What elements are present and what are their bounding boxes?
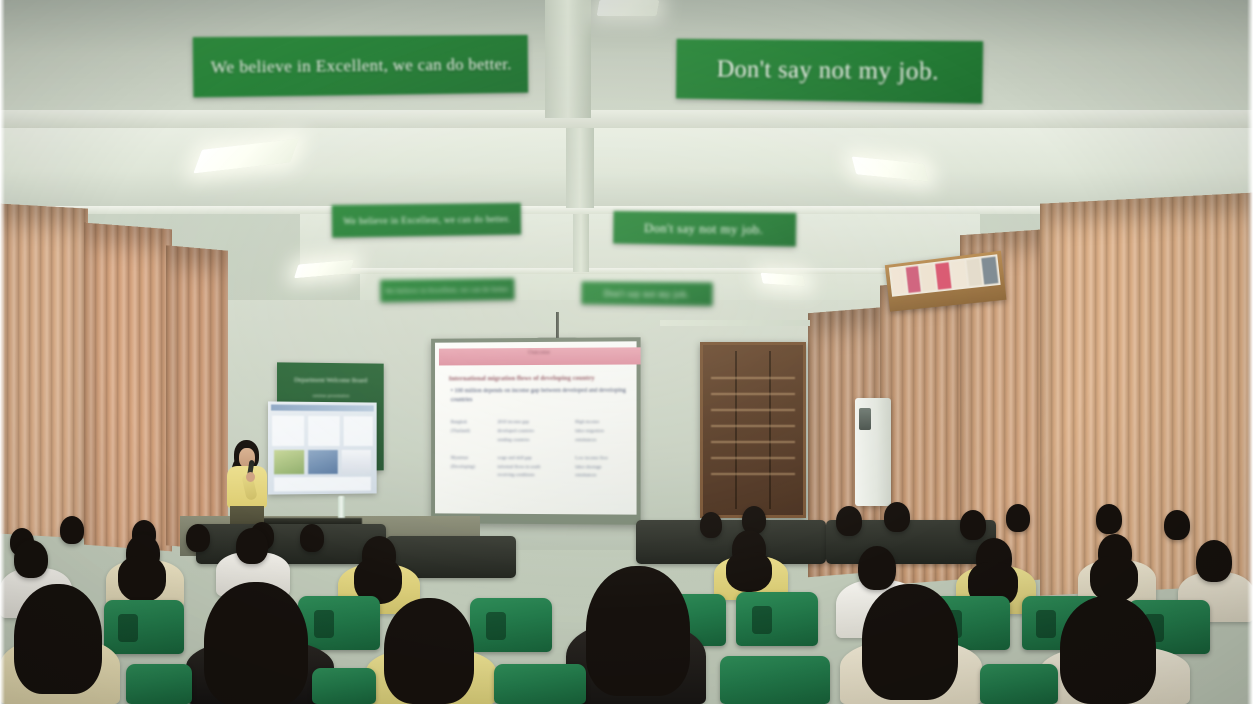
audience-hair: [1060, 596, 1156, 704]
photo-edge-right: [1247, 0, 1253, 704]
audience-hair: [586, 566, 690, 696]
audience-head: [186, 524, 210, 552]
chair-slot: [118, 614, 138, 642]
audience-head: [236, 528, 268, 564]
audience-hair: [204, 582, 308, 704]
photo-edge-left: [0, 0, 5, 704]
audience-head: [836, 506, 862, 536]
audience-head: [300, 524, 324, 552]
chair-slot: [752, 606, 772, 634]
audience-head: [14, 540, 48, 578]
audience-head: [1196, 540, 1232, 582]
chair: [494, 664, 586, 704]
audience-head: [60, 516, 84, 544]
audience-hair: [726, 552, 772, 592]
photo-scene: We believe in Excellent, we can do bette…: [0, 0, 1253, 704]
chair: [298, 596, 380, 650]
audience-head: [960, 510, 986, 540]
audience-hair: [384, 598, 474, 704]
chair: [126, 664, 192, 704]
chair: [980, 664, 1058, 704]
audience-hair: [1090, 556, 1138, 602]
audience-hair: [862, 584, 958, 700]
audience-head: [884, 502, 910, 532]
audience-head: [1006, 504, 1030, 532]
chair: [720, 656, 830, 704]
audience-head: [1164, 510, 1190, 540]
audience-hair: [118, 556, 166, 602]
audience-head: [858, 546, 896, 590]
chair-slot: [314, 610, 334, 638]
chair: [104, 600, 184, 654]
chair-slot: [1036, 610, 1056, 638]
chair: [470, 598, 552, 652]
chair-slot: [486, 612, 506, 640]
audience-head: [1096, 504, 1122, 534]
audience-hair: [14, 584, 102, 694]
audience-area: [0, 0, 1253, 704]
chair: [736, 592, 818, 646]
chair: [312, 668, 376, 704]
audience-head: [700, 512, 722, 538]
